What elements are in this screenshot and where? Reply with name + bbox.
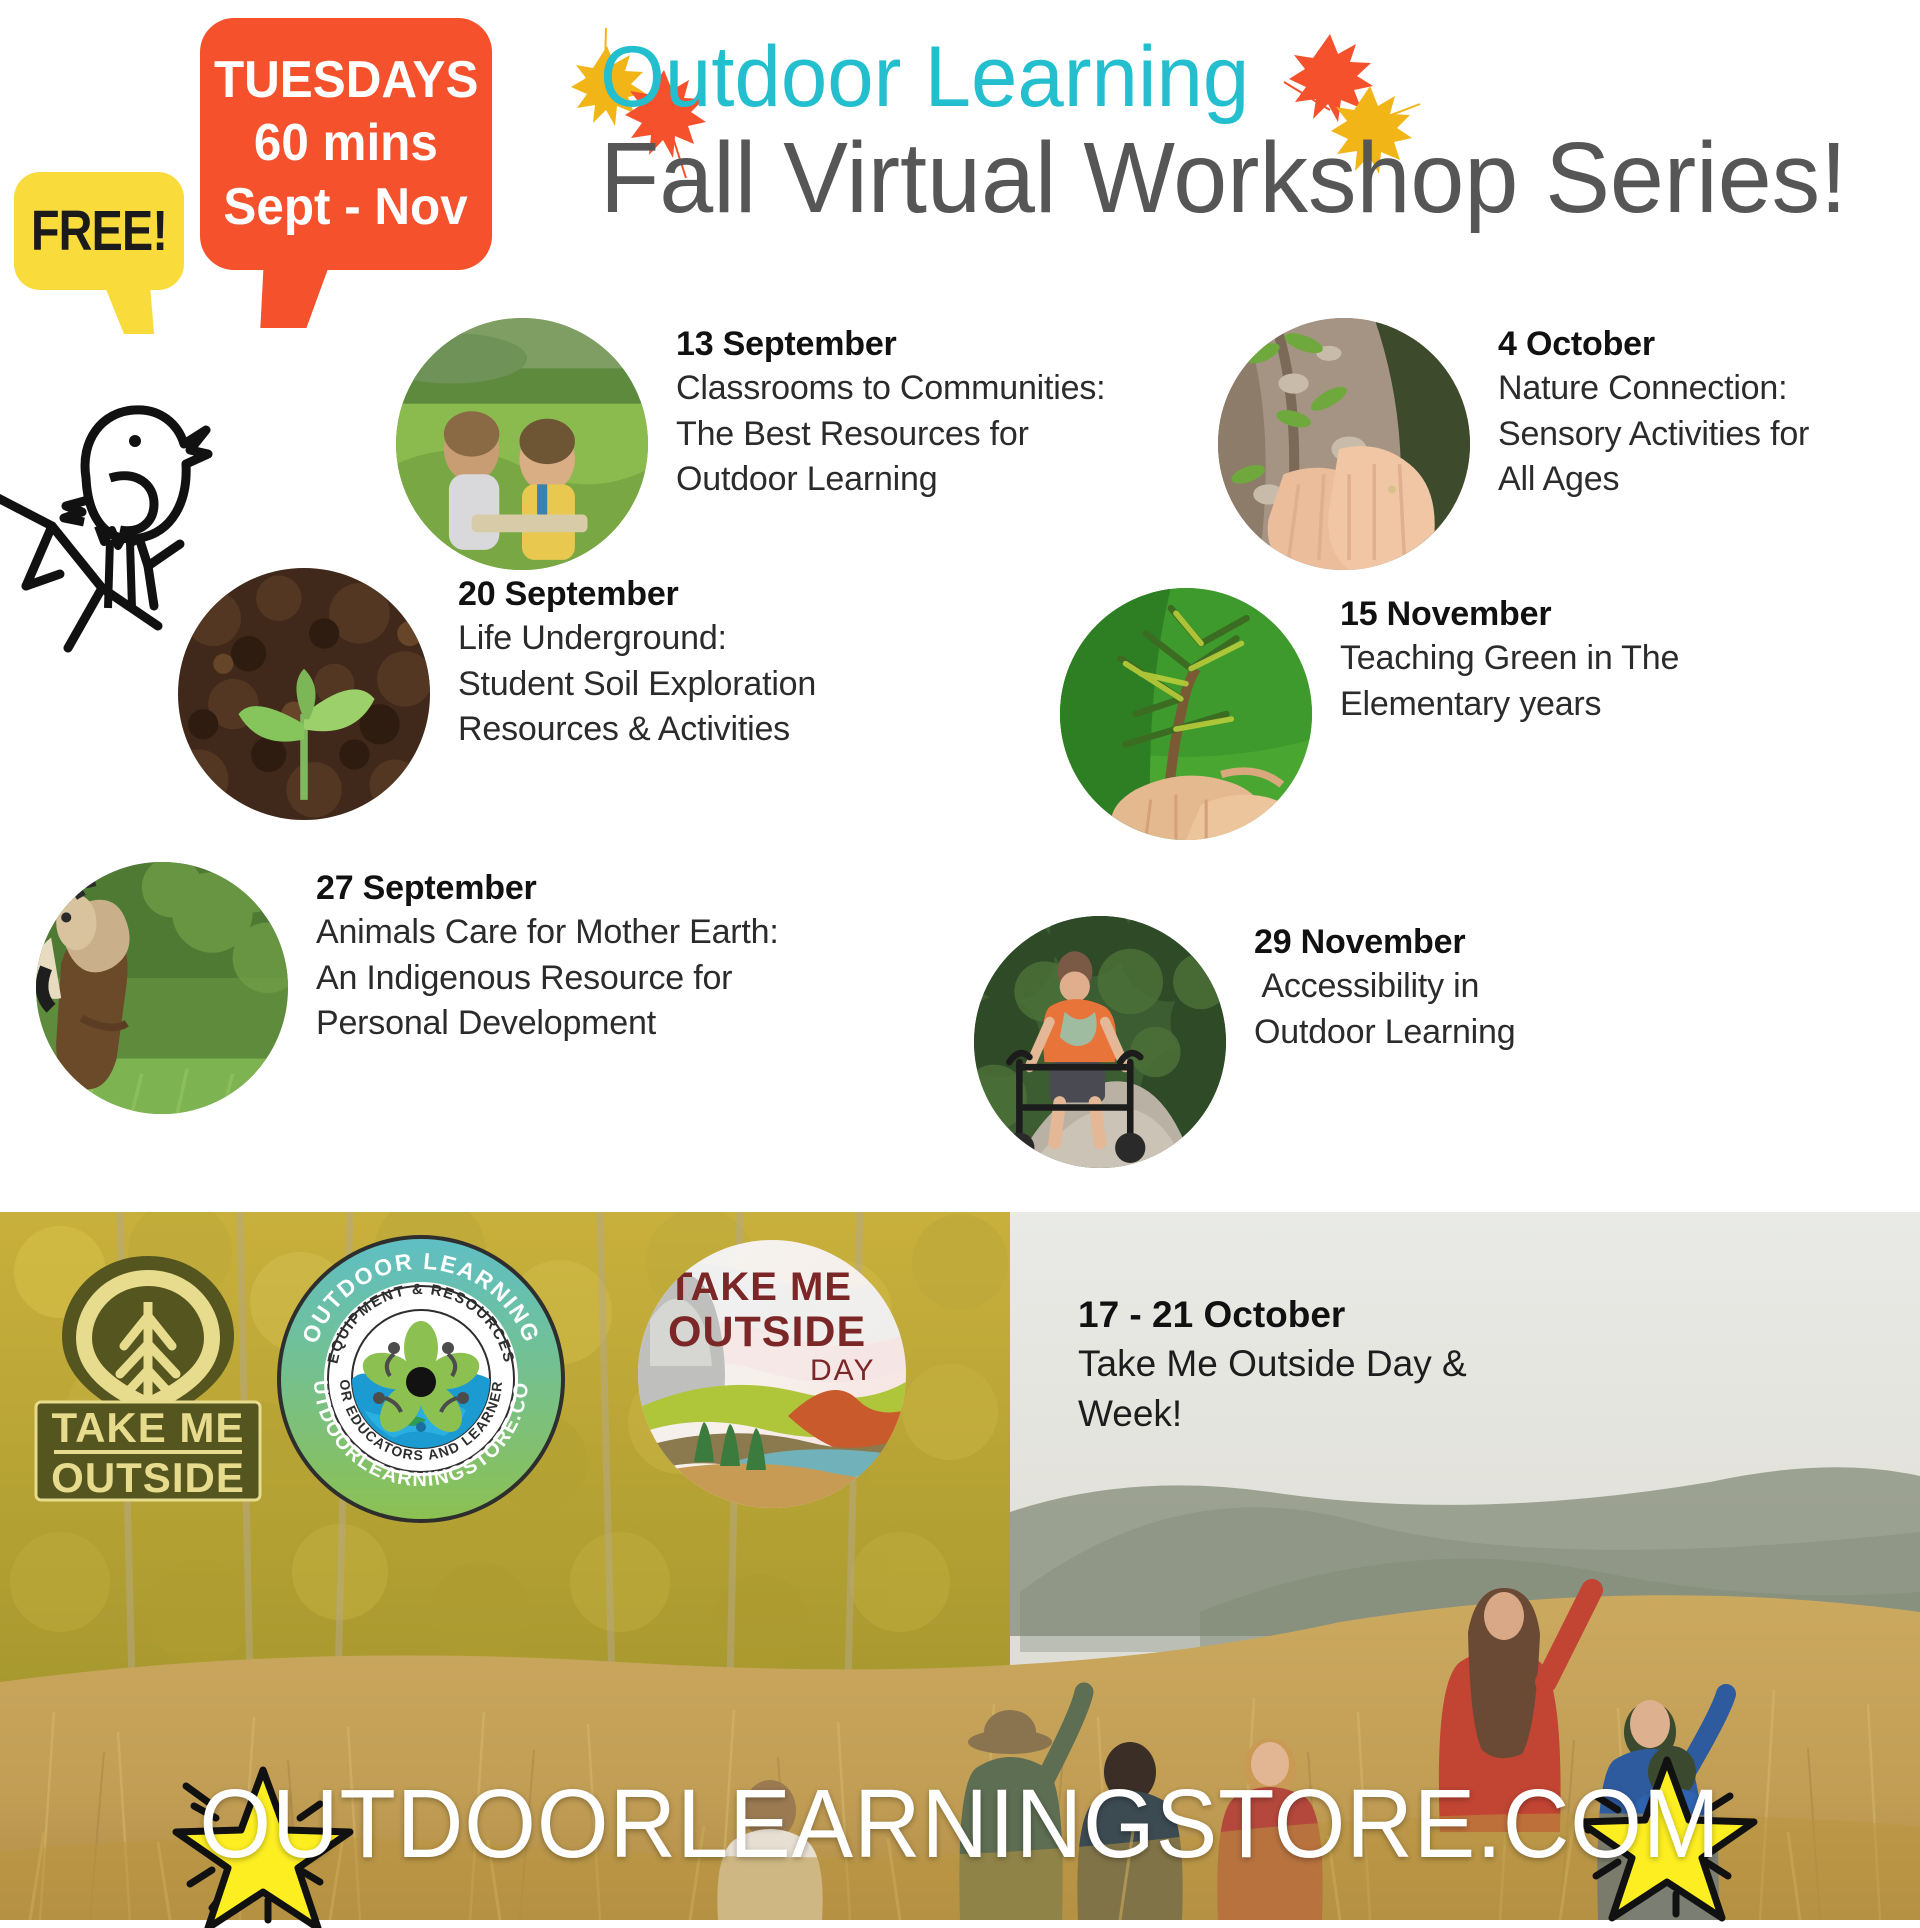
banner-event-description: Take Me Outside Day & Week!	[1078, 1339, 1467, 1439]
workshop-date: 15 November	[1340, 592, 1800, 636]
free-badge-label: FREE!	[31, 198, 167, 264]
workshop-item: 27 September Animals Care for Mother Ear…	[36, 862, 956, 1114]
workshop-date: 4 October	[1498, 322, 1920, 366]
workshop-title: Accessibility in Outdoor Learning	[1254, 964, 1674, 1055]
tmo-line1: TAKE ME	[52, 1404, 245, 1451]
workshop-photo	[974, 916, 1226, 1168]
workshop-item: 20 September Life Underground: Student S…	[178, 568, 978, 820]
workshop-item: 4 October Nature Connection: Sensory Act…	[1218, 318, 1920, 570]
free-badge: FREE!	[14, 172, 184, 290]
take-me-outside-day-logo: TAKE ME OUTSIDE DAY	[638, 1240, 906, 1508]
workshop-item: 15 November Teaching Green in The Elemen…	[1060, 588, 1800, 840]
workshop-title: Classrooms to Communities: The Best Reso…	[676, 366, 1236, 503]
workshop-date: 13 September	[676, 322, 1236, 366]
banner-event-date: 17 - 21 October	[1078, 1290, 1467, 1339]
take-me-outside-logo: TAKE ME OUTSIDE	[28, 1250, 268, 1505]
tmod-line3: DAY	[810, 1354, 875, 1387]
schedule-badge-line2: 60 mins	[254, 113, 438, 174]
workshop-date: 20 September	[458, 572, 978, 616]
workshop-title: Nature Connection: Sensory Activities fo…	[1498, 366, 1920, 503]
page-title: Outdoor Learning	[600, 32, 1880, 122]
schedule-badge-tail	[240, 264, 329, 328]
workshop-item: 13 September Classrooms to Communities: …	[396, 318, 1236, 570]
workshop-title: Animals Care for Mother Earth: An Indige…	[316, 910, 956, 1047]
bird-on-branch-icon	[0, 330, 260, 660]
workshop-photo	[36, 862, 288, 1114]
schedule-badge-line1: TUESDAYS	[214, 50, 478, 111]
free-badge-tail	[104, 284, 170, 334]
banner-event: 17 - 21 October Take Me Outside Day & We…	[1078, 1290, 1467, 1439]
schedule-badge: TUESDAYS 60 mins Sept - Nov	[200, 18, 492, 270]
workshop-title: Life Underground: Student Soil Explorati…	[458, 616, 978, 753]
workshop-photo	[1218, 318, 1470, 570]
workshop-date: 29 November	[1254, 920, 1674, 964]
page-subtitle: Fall Virtual Workshop Series!	[600, 126, 1880, 231]
schedule-badge-line3: Sept - Nov	[224, 177, 468, 238]
workshop-photo	[1060, 588, 1312, 840]
outdoor-learning-store-logo: OUTDOOR LEARNING OUTDOORLEARNINGSTORE.CO…	[276, 1234, 566, 1524]
workshop-title: Teaching Green in The Elementary years	[1340, 636, 1800, 727]
poster-root: Outdoor Learning Fall Virtual Workshop S…	[0, 0, 1920, 1920]
workshop-date: 27 September	[316, 866, 956, 910]
tmod-line1: TAKE ME	[668, 1265, 852, 1309]
tmo-line2: OUTSIDE	[51, 1454, 245, 1501]
tmod-line2: OUTSIDE	[668, 1308, 866, 1356]
workshop-item: 29 November Accessibility in Outdoor Lea…	[974, 916, 1674, 1168]
workshop-photo	[396, 318, 648, 570]
website-url[interactable]: OUTDOORLEARNINGSTORE.COM	[48, 1768, 1872, 1880]
header: Outdoor Learning Fall Virtual Workshop S…	[600, 32, 1920, 231]
